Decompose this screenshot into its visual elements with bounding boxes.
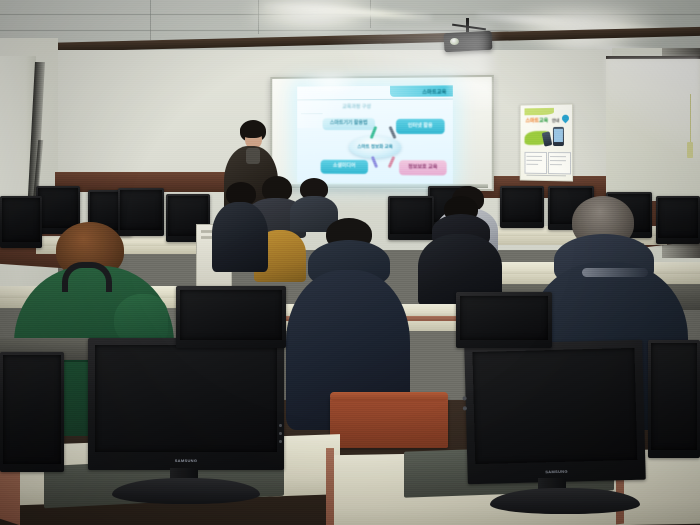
location-pin-icon	[560, 113, 570, 123]
presenter-collar	[246, 148, 260, 164]
attendee-dark-front-left	[212, 182, 268, 270]
slide-accent-line	[301, 113, 322, 114]
slide-divider	[297, 99, 453, 101]
slide-arrow-4	[388, 156, 396, 168]
whiteboard-glare	[448, 80, 492, 110]
lcd-monitor	[648, 340, 700, 458]
wall-poster: 스마트 교육 안내	[520, 103, 573, 181]
lcd-monitor	[0, 352, 64, 472]
blind-cord	[690, 94, 691, 142]
poster-title-b: 교육	[539, 117, 548, 124]
poster-phone-graphic	[542, 131, 553, 146]
poster-swoosh	[525, 108, 554, 115]
headphones	[62, 262, 112, 292]
blind-cord-weight	[687, 142, 693, 158]
ceiling-seam	[150, 0, 151, 40]
monitor-power-led	[279, 424, 282, 427]
poster-phone-screen	[554, 129, 563, 142]
attendee-black-puffer	[418, 196, 502, 304]
slide-center-node: 스마트 정보화 교육	[349, 136, 401, 158]
monitor-brand-logo: SAMSUNG	[88, 458, 284, 463]
slide-box-bottom-left: 소셜미디어	[321, 160, 368, 174]
monitor-front-right: SAMSUNG	[464, 340, 646, 485]
slide-box-top-right: 인터넷 활용	[396, 119, 445, 134]
lcd-monitor	[176, 286, 286, 348]
chair-top-rail	[330, 392, 448, 401]
projected-slide: 스마트교육 교육과정 구성 스마트기기 활용법 인터넷 활용 소셜미디어 정보보…	[297, 85, 453, 183]
whiteboard-glare	[300, 72, 360, 94]
slide-box-top-left: 스마트기기 활용법	[323, 118, 375, 130]
poster-title-c: 안내	[552, 118, 559, 124]
monitor-base	[112, 478, 260, 504]
lcd-monitor	[456, 292, 552, 348]
monitor-base	[490, 488, 640, 514]
poster-title-a: 스마트	[525, 117, 538, 124]
slide-box-bottom-right: 정보보호 교육	[399, 160, 447, 175]
slide-title: 교육과정 구성	[342, 103, 371, 110]
attendee-jacket	[212, 202, 268, 272]
wooden-chair-back	[330, 396, 448, 448]
monitor-front-left: SAMSUNG	[88, 338, 284, 470]
slide-header-text: 스마트교육	[422, 88, 446, 95]
desk-front-divider	[326, 448, 334, 525]
blind-sheen	[606, 58, 700, 188]
hood-drawstring	[582, 268, 648, 277]
classroom-photo: 스마트교육 교육과정 구성 스마트기기 활용법 인터넷 활용 소셜미디어 정보보…	[0, 0, 700, 525]
